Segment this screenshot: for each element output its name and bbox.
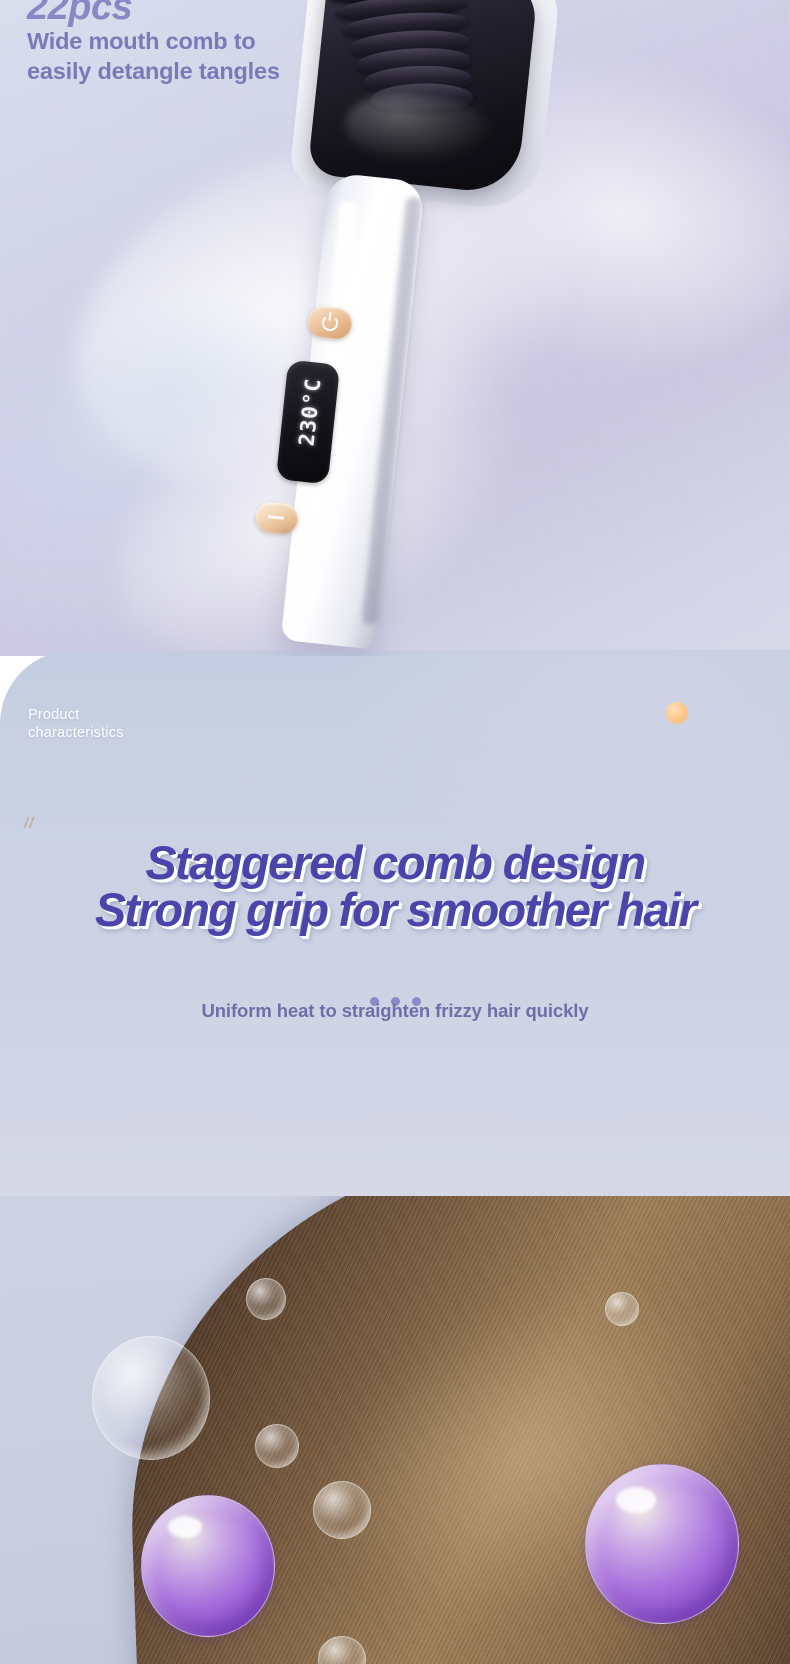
hero-copy: 22pcs Wide mouth comb to easily detangle… — [27, 0, 280, 86]
product-image: 230°C — [0, 0, 790, 656]
bubble-small — [605, 1292, 639, 1326]
feature-heading-line-2: Strong grip for smoother hair — [0, 887, 790, 934]
section-eyebrow-line-1: Product — [28, 707, 124, 725]
bubble-small — [246, 1278, 286, 1320]
feature-subtitle: Uniform heat to straighten frizzy hair q… — [0, 1000, 790, 1022]
feature-heading-line-1: Staggered comb design — [0, 840, 790, 887]
hero-line-1: Wide mouth comb to — [27, 26, 280, 56]
hair-section — [0, 1196, 790, 1664]
section-eyebrow: Product characteristics — [28, 707, 124, 742]
droplet-highlight — [168, 1516, 202, 1538]
serum-droplet-large — [141, 1495, 275, 1637]
accent-dot — [666, 702, 688, 724]
bubble-small — [255, 1424, 299, 1468]
hero-section: 230°C 22pcs Wide mouth comb to easily de… — [0, 0, 790, 656]
section-eyebrow-line-2: characteristics — [28, 725, 124, 743]
serum-droplet-large — [585, 1464, 739, 1624]
hero-line-2: easily detangle tangles — [27, 56, 280, 86]
feature-heading: Staggered comb design Strong grip for sm… — [0, 840, 790, 933]
droplet-highlight — [616, 1487, 656, 1513]
product-detail-page: 230°C 22pcs Wide mouth comb to easily de… — [0, 0, 790, 1664]
bubble-medium — [313, 1481, 371, 1539]
hero-badge: 22pcs — [27, 0, 280, 26]
slash-decoration: // — [24, 815, 34, 832]
bubble-large — [92, 1336, 210, 1460]
